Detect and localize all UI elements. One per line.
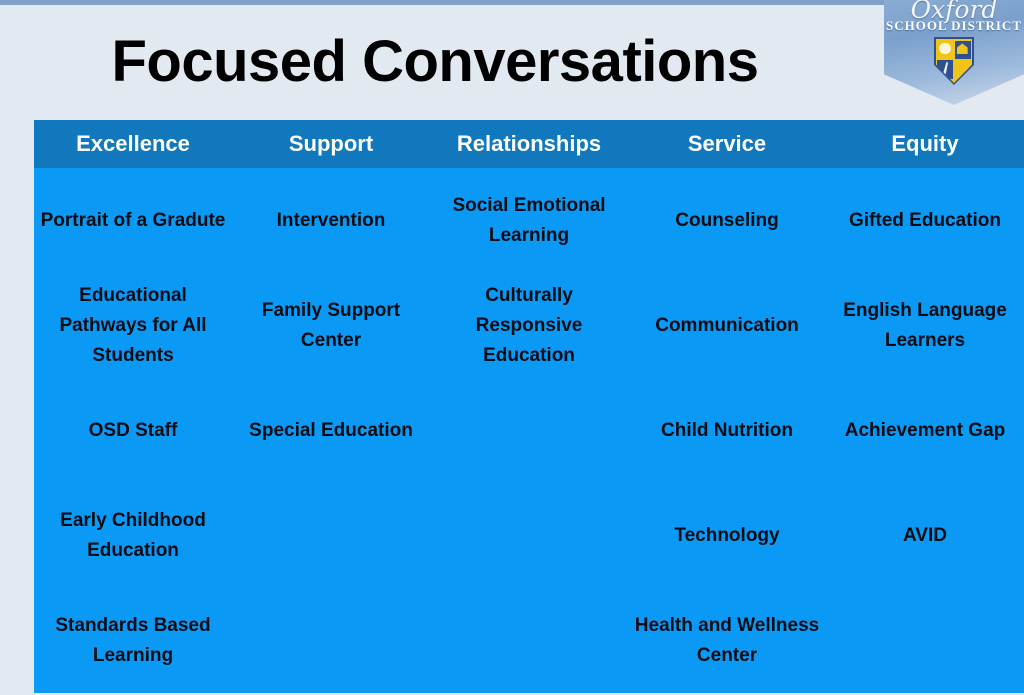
crest-face xyxy=(936,39,972,83)
cell-support-4 xyxy=(232,483,430,588)
table-row: Early Childhood Education Technology AVI… xyxy=(34,483,1024,588)
cell-relationships-1: Social Emotional Learning xyxy=(430,168,628,273)
table-row: Portrait of a Gradute Intervention Socia… xyxy=(34,168,1024,273)
table-body: Portrait of a Gradute Intervention Socia… xyxy=(34,168,1024,693)
slide-header: Focused Conversations Oxford SCHOOL DIST… xyxy=(0,5,1024,120)
cell-relationships-3 xyxy=(430,378,628,483)
cell-excellence-1: Portrait of a Gradute xyxy=(34,168,232,273)
cell-service-5: Health and Wellness Center xyxy=(628,588,826,693)
column-header-support: Support xyxy=(232,120,430,168)
table-row: OSD Staff Special Education Child Nutrit… xyxy=(34,378,1024,483)
cell-service-3: Child Nutrition xyxy=(628,378,826,483)
cell-relationships-2: Culturally Responsive Education xyxy=(430,273,628,378)
cell-relationships-4 xyxy=(430,483,628,588)
column-header-equity: Equity xyxy=(826,120,1024,168)
logo-subtitle-text: SCHOOL DISTRICT xyxy=(884,18,1024,34)
cell-service-2: Communication xyxy=(628,273,826,378)
oxford-school-district-logo: Oxford SCHOOL DISTRICT xyxy=(884,0,1024,105)
column-header-service: Service xyxy=(628,120,826,168)
cell-equity-5 xyxy=(826,588,1024,693)
table-row: Educational Pathways for All Students Fa… xyxy=(34,273,1024,378)
cell-excellence-2: Educational Pathways for All Students xyxy=(34,273,232,378)
cell-equity-2: English Language Learners xyxy=(826,273,1024,378)
page-title: Focused Conversations xyxy=(0,25,870,99)
cell-support-2: Family Support Center xyxy=(232,273,430,378)
column-header-relationships: Relationships xyxy=(430,120,628,168)
cell-support-1: Intervention xyxy=(232,168,430,273)
cell-service-1: Counseling xyxy=(628,168,826,273)
cell-support-5 xyxy=(232,588,430,693)
cell-support-3: Special Education xyxy=(232,378,430,483)
table-header-row: Excellence Support Relationships Service… xyxy=(34,120,1024,168)
shield-crest-icon xyxy=(934,37,974,85)
cell-excellence-4: Early Childhood Education xyxy=(34,483,232,588)
cell-relationships-5 xyxy=(430,588,628,693)
cell-equity-4: AVID xyxy=(826,483,1024,588)
table-header: Excellence Support Relationships Service… xyxy=(34,120,1024,168)
column-header-excellence: Excellence xyxy=(34,120,232,168)
cell-service-4: Technology xyxy=(628,483,826,588)
cell-excellence-3: OSD Staff xyxy=(34,378,232,483)
table-row: Standards Based Learning Health and Well… xyxy=(34,588,1024,693)
cell-excellence-5: Standards Based Learning xyxy=(34,588,232,693)
focus-areas-table: Excellence Support Relationships Service… xyxy=(34,120,1024,693)
moon-icon xyxy=(939,43,951,54)
cell-equity-3: Achievement Gap xyxy=(826,378,1024,483)
cell-equity-1: Gifted Education xyxy=(826,168,1024,273)
